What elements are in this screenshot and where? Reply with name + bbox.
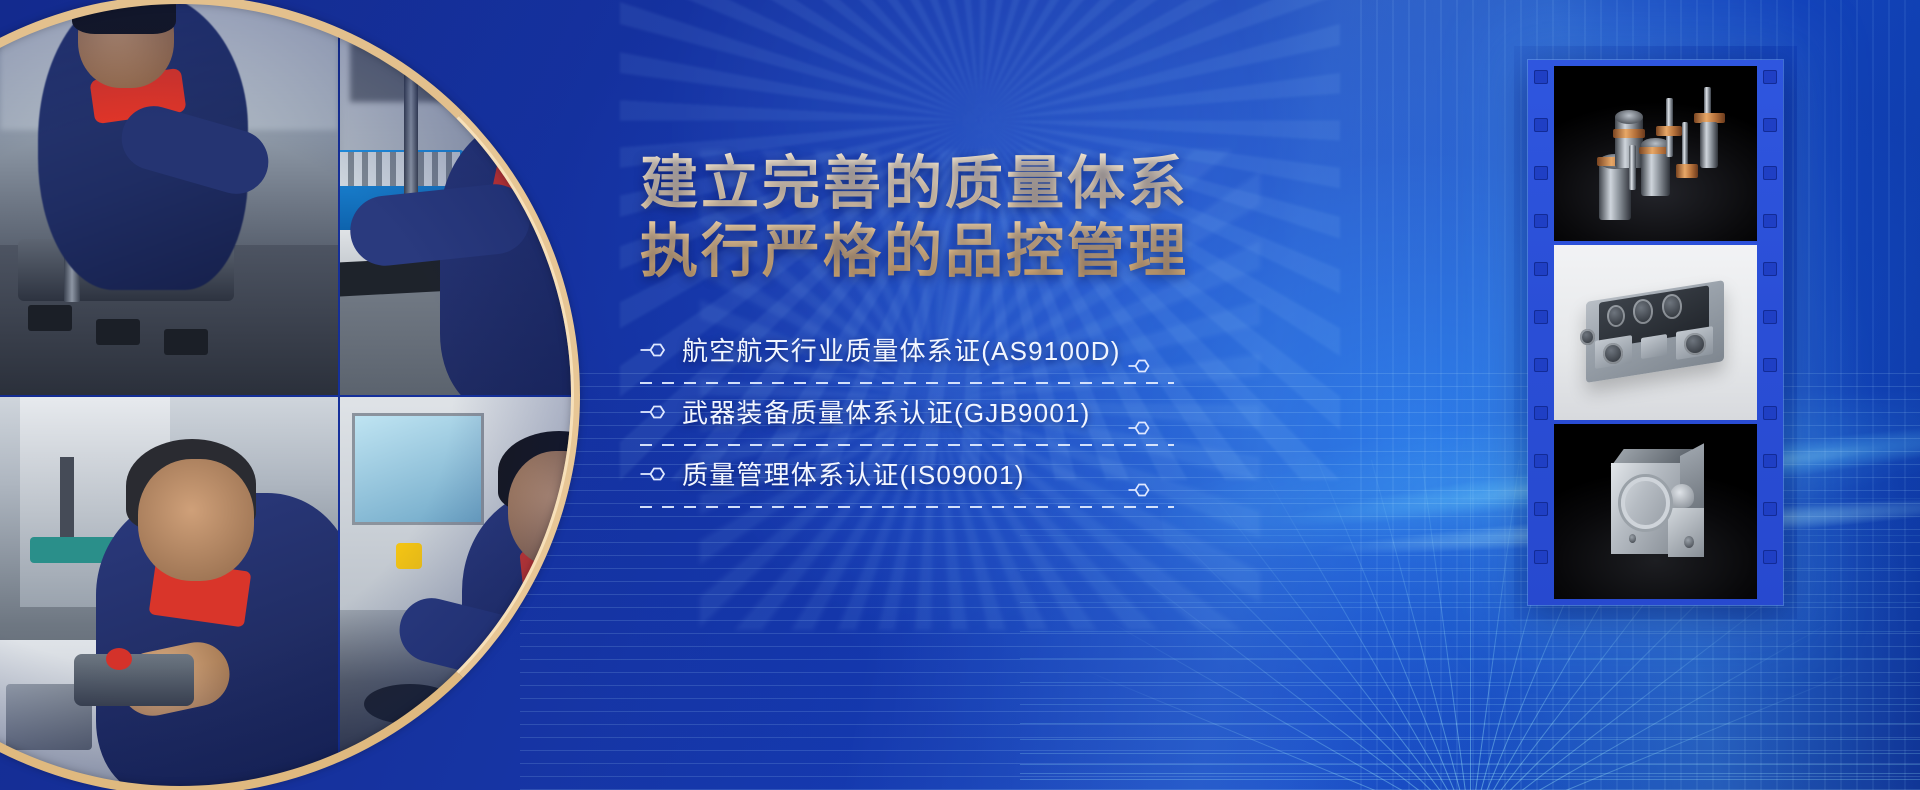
quality-system-banner: 建立完善的质量体系 执行严格的品控管理 航空航天行业质量体系证(AS9100D)	[0, 0, 1920, 790]
list-item: 质量管理体系认证(IS09001)	[640, 446, 1260, 508]
certification-list: 航空航天行业质量体系证(AS9100D)	[640, 322, 1260, 508]
hex-node-icon	[640, 342, 666, 358]
product-film-strip	[1528, 60, 1783, 605]
hex-node-icon	[640, 466, 666, 482]
hex-node-icon	[640, 404, 666, 420]
film-perforations-right	[1757, 60, 1783, 605]
list-item: 武器装备质量体系认证(GJB9001)	[640, 384, 1260, 446]
headline-line-1: 建立完善的质量体系	[640, 150, 1260, 218]
product-image-1	[1554, 66, 1757, 241]
hex-node-endcap-icon	[1128, 482, 1152, 498]
headline-block: 建立完善的质量体系 执行严格的品控管理 航空航天行业质量体系证(AS9100D)	[640, 150, 1260, 508]
hex-node-endcap-icon	[1128, 358, 1152, 374]
divider	[640, 506, 1174, 508]
product-image-3	[1554, 424, 1757, 599]
cert-label: 航空航天行业质量体系证(AS9100D)	[682, 331, 1121, 368]
hex-node-endcap-icon	[1128, 420, 1152, 436]
page-title: 建立完善的质量体系 执行严格的品控管理	[640, 150, 1260, 286]
headline-line-2: 执行严格的品控管理	[640, 218, 1260, 286]
cert-label: 质量管理体系认证(IS09001)	[682, 455, 1025, 492]
product-image-2	[1554, 245, 1757, 420]
film-perforations-left	[1528, 60, 1554, 605]
list-item: 航空航天行业质量体系证(AS9100D)	[640, 322, 1260, 384]
cert-label: 武器装备质量体系认证(GJB9001)	[682, 393, 1091, 430]
